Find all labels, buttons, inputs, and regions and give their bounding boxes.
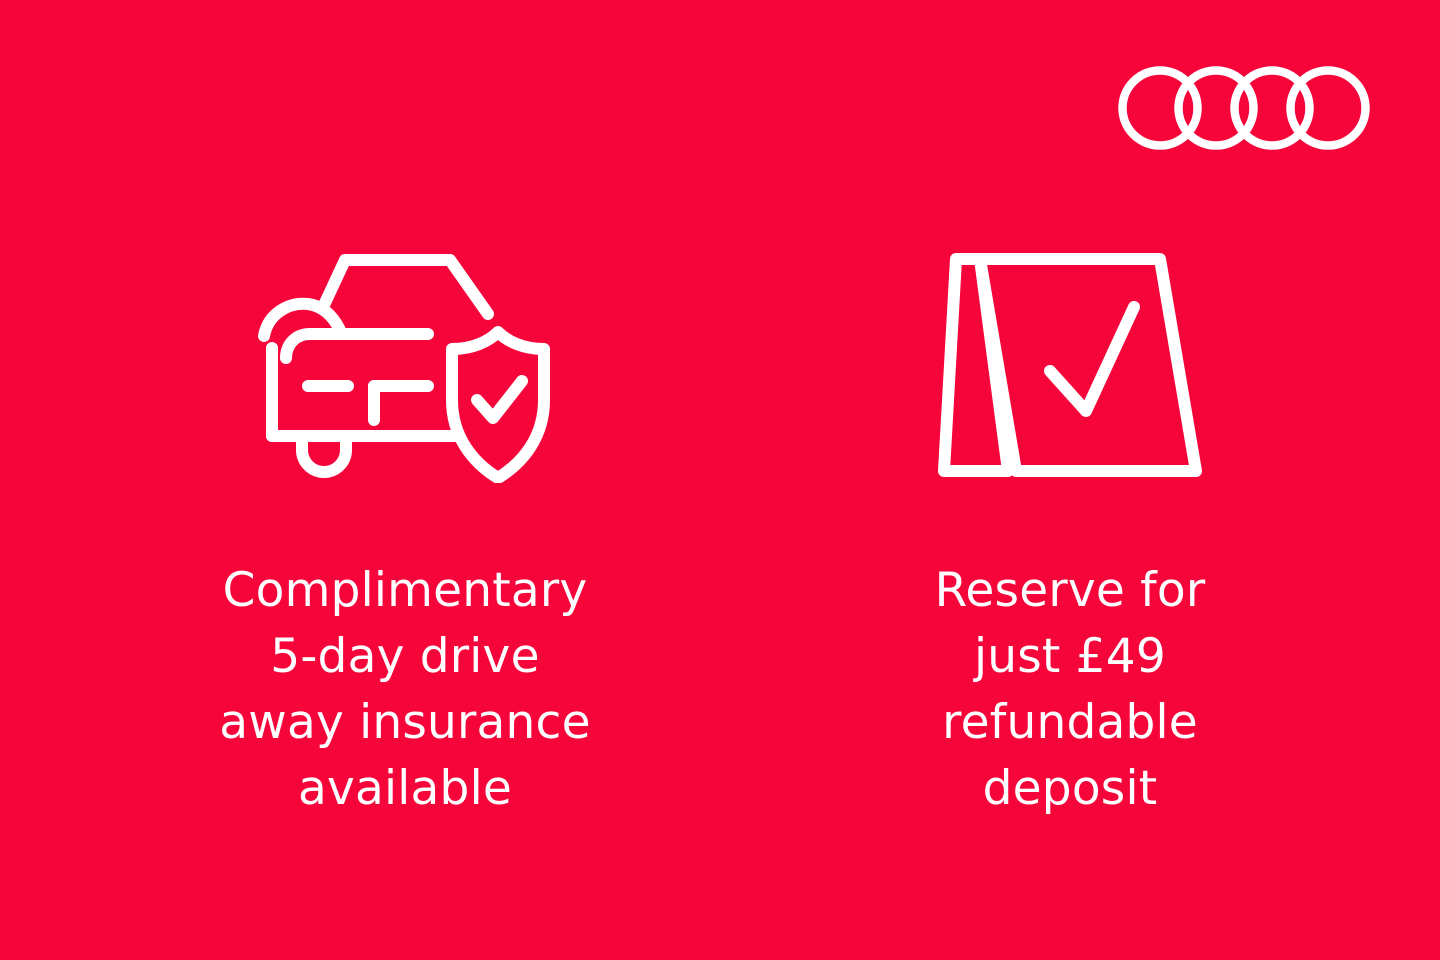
- feature-insurance: Complimentary 5-day drive away insurance…: [135, 240, 675, 822]
- car-shield-check-icon: [250, 240, 560, 490]
- promo-banner: Complimentary 5-day drive away insurance…: [0, 0, 1440, 960]
- reserved-card-check-icon: [934, 240, 1206, 490]
- audi-four-rings-icon: [1118, 58, 1374, 158]
- feature-deposit: Reserve for just £49 refundable deposit: [800, 240, 1340, 822]
- feature-insurance-caption: Complimentary 5-day drive away insurance…: [219, 558, 590, 822]
- feature-deposit-caption: Reserve for just £49 refundable deposit: [935, 558, 1206, 822]
